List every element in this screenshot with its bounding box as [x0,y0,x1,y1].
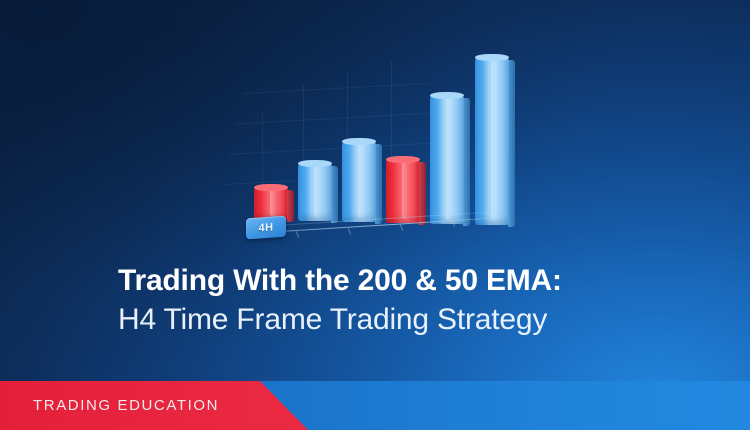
bar-6 [475,57,509,225]
page-title-colon: : [552,264,562,297]
headline-block: Trading With the 200 & 50 EMA: H4 Time F… [118,262,678,340]
axis-tick-1 [296,231,300,238]
bar-3 [342,141,376,222]
page-title-line-1: Trading With the 200 & 50 EMA: [118,262,678,300]
bar-2 [298,163,332,221]
page-title-line-2: H4 Time Frame Trading Strategy [118,300,678,340]
bottom-banner: TRADING EDUCATION [0,381,750,430]
bar-4 [386,159,420,223]
timeframe-tag-label: 4H [258,221,273,234]
bar-5 [430,95,464,224]
gridline-horizontal-1 [235,112,435,124]
gridline-horizontal-4 [243,83,428,94]
gridline-horizontal-2 [229,142,439,155]
axis-tick-2 [348,228,352,235]
page-title-main: Trading With the 200 & 50 EMA [118,264,552,297]
bar-chart-illustration: 4H [225,0,515,255]
promo-banner-canvas: 4H Trading With the 200 & 50 EMA: H4 Tim… [0,0,750,430]
axis-tick-3 [400,224,404,231]
category-label: TRADING EDUCATION [33,381,219,430]
timeframe-tag-4h: 4H [246,216,286,240]
